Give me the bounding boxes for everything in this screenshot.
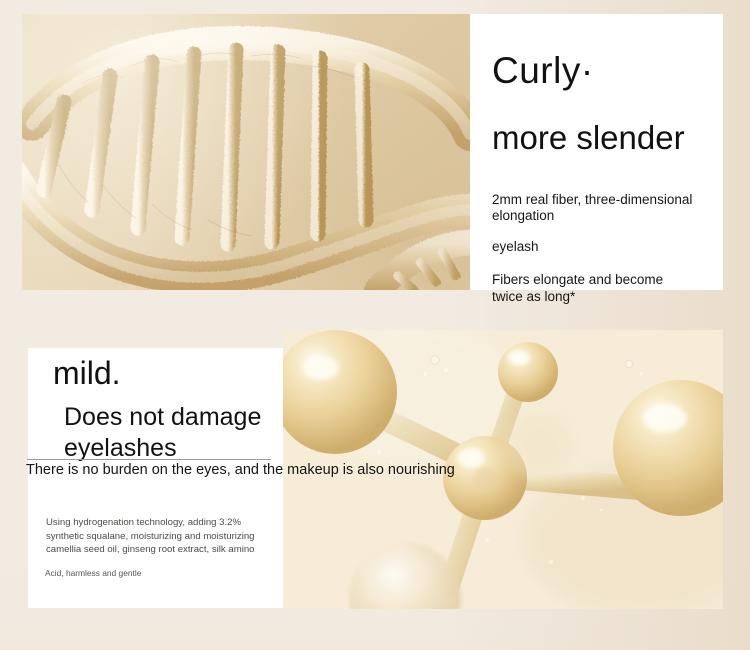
mild-headline: mild. xyxy=(53,357,121,389)
curly-body-elongate: Fibers elongate and become twice as long… xyxy=(492,272,695,306)
mild-fineprint-secondary: Acid, harmless and gentle xyxy=(45,568,195,580)
mild-fineprint: Using hydrogenation technology, adding 3… xyxy=(46,516,271,557)
mild-divider xyxy=(27,459,271,460)
curly-body-eyelash: eyelash xyxy=(492,239,695,255)
section-curly: Curly· more slender 2mm real fiber, thre… xyxy=(22,14,723,290)
product-detail-page: Curly· more slender 2mm real fiber, thre… xyxy=(0,0,750,650)
curly-headline: Curly· xyxy=(492,52,695,89)
mild-subheadline: Does not damage eyelashes xyxy=(64,402,324,463)
dna-helix-illustration xyxy=(22,14,470,290)
curly-text-column: Curly· more slender 2mm real fiber, thre… xyxy=(470,14,723,290)
curly-body-fiber: 2mm real fiber, three-dimensional elonga… xyxy=(492,192,695,225)
dna-helix-image xyxy=(22,14,470,290)
curly-subheadline: more slender xyxy=(492,121,695,154)
section-mild: mild. Does not damage eyelashes There is… xyxy=(22,330,723,609)
mild-lead-text: There is no burden on the eyes, and the … xyxy=(26,461,456,480)
